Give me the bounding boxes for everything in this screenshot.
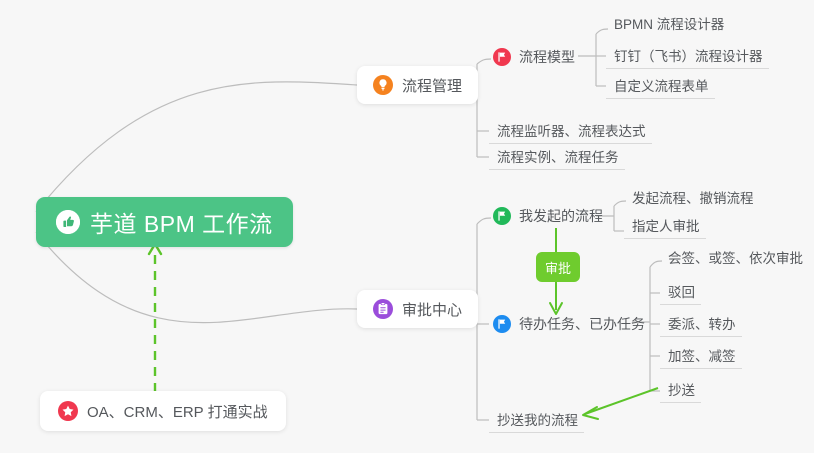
link-root-to-process-management — [36, 82, 357, 212]
arrow-cc-to-ccmine — [583, 388, 658, 419]
leaf-label: 抄送 — [668, 379, 695, 399]
leaf-start-cancel-process[interactable]: 发起流程、撤销流程 — [624, 183, 760, 210]
leaf-label: 流程监听器、流程表达式 — [497, 120, 646, 140]
flag-icon — [493, 207, 511, 225]
branch-label: 流程管理 — [402, 75, 462, 96]
leaf-countersign[interactable]: 会签、或签、依次审批 — [660, 243, 809, 270]
leaf-label: 自定义流程表单 — [614, 75, 709, 95]
arrow-note-to-root — [149, 244, 161, 392]
leaf-reject[interactable]: 驳回 — [660, 278, 701, 305]
leaf-label: BPMN 流程设计器 — [614, 13, 724, 33]
branch-process-management[interactable]: 流程管理 — [357, 66, 478, 104]
leaf-carbon-copy[interactable]: 抄送 — [660, 376, 701, 403]
link-ac-to-initiated — [477, 218, 491, 224]
sub-todo-done-tasks[interactable]: 待办任务、已办任务 — [491, 311, 647, 337]
thumbs-up-icon — [56, 210, 80, 234]
leaf-cc-to-me[interactable]: 抄送我的流程 — [489, 406, 584, 433]
sub-process-model[interactable]: 流程模型 — [491, 44, 577, 70]
root-node[interactable]: 芋道 BPM 工作流 — [36, 197, 293, 247]
leaf-dingtalk-designer[interactable]: 钉钉（飞书）流程设计器 — [606, 42, 769, 69]
branch-approval-center[interactable]: 审批中心 — [357, 290, 478, 328]
sub-my-initiated[interactable]: 我发起的流程 — [491, 203, 605, 229]
leaf-label: 流程实例、流程任务 — [497, 146, 619, 166]
leaf-label: 指定人审批 — [632, 215, 700, 235]
leaf-label: 驳回 — [668, 281, 695, 301]
leaf-custom-form[interactable]: 自定义流程表单 — [606, 72, 715, 99]
leaf-label: 钉钉（飞书）流程设计器 — [614, 45, 763, 65]
leaf-label: 委派、转办 — [668, 313, 736, 333]
leaf-label: 发起流程、撤销流程 — [632, 187, 754, 207]
clipboard-icon — [373, 299, 393, 319]
sub-label: 待办任务、已办任务 — [519, 314, 645, 334]
note-label: OA、CRM、ERP 打通实战 — [87, 401, 268, 422]
leaf-delegate-transfer[interactable]: 委派、转办 — [660, 310, 742, 337]
leaf-label: 会签、或签、依次审批 — [668, 247, 803, 267]
callout-approval-chip: 审批 — [536, 252, 580, 282]
callout-label: 审批 — [545, 258, 571, 277]
flag-icon — [493, 315, 511, 333]
leaf-add-remove-sign[interactable]: 加签、减签 — [660, 342, 742, 369]
flag-icon — [493, 48, 511, 66]
branch-label: 审批中心 — [402, 299, 462, 320]
star-icon — [58, 401, 78, 421]
note-integration[interactable]: OA、CRM、ERP 打通实战 — [40, 391, 286, 431]
leaf-bpmn-designer[interactable]: BPMN 流程设计器 — [606, 9, 730, 36]
sub-label: 我发起的流程 — [519, 206, 603, 226]
lightbulb-icon — [373, 75, 393, 95]
sub-label: 流程模型 — [519, 47, 575, 67]
link-pm-to-model — [477, 59, 491, 64]
leaf-assignee-approval[interactable]: 指定人审批 — [624, 212, 706, 239]
leaf-process-listener[interactable]: 流程监听器、流程表达式 — [489, 117, 652, 144]
mindmap-canvas: 芋道 BPM 工作流 流程管理 流程模型 BPMN 流程设计器 钉钉（飞书）流程… — [0, 0, 814, 453]
leaf-label: 抄送我的流程 — [497, 409, 578, 429]
leaf-process-instance[interactable]: 流程实例、流程任务 — [489, 143, 625, 170]
leaf-label: 加签、减签 — [668, 345, 736, 365]
root-label: 芋道 BPM 工作流 — [90, 205, 273, 239]
